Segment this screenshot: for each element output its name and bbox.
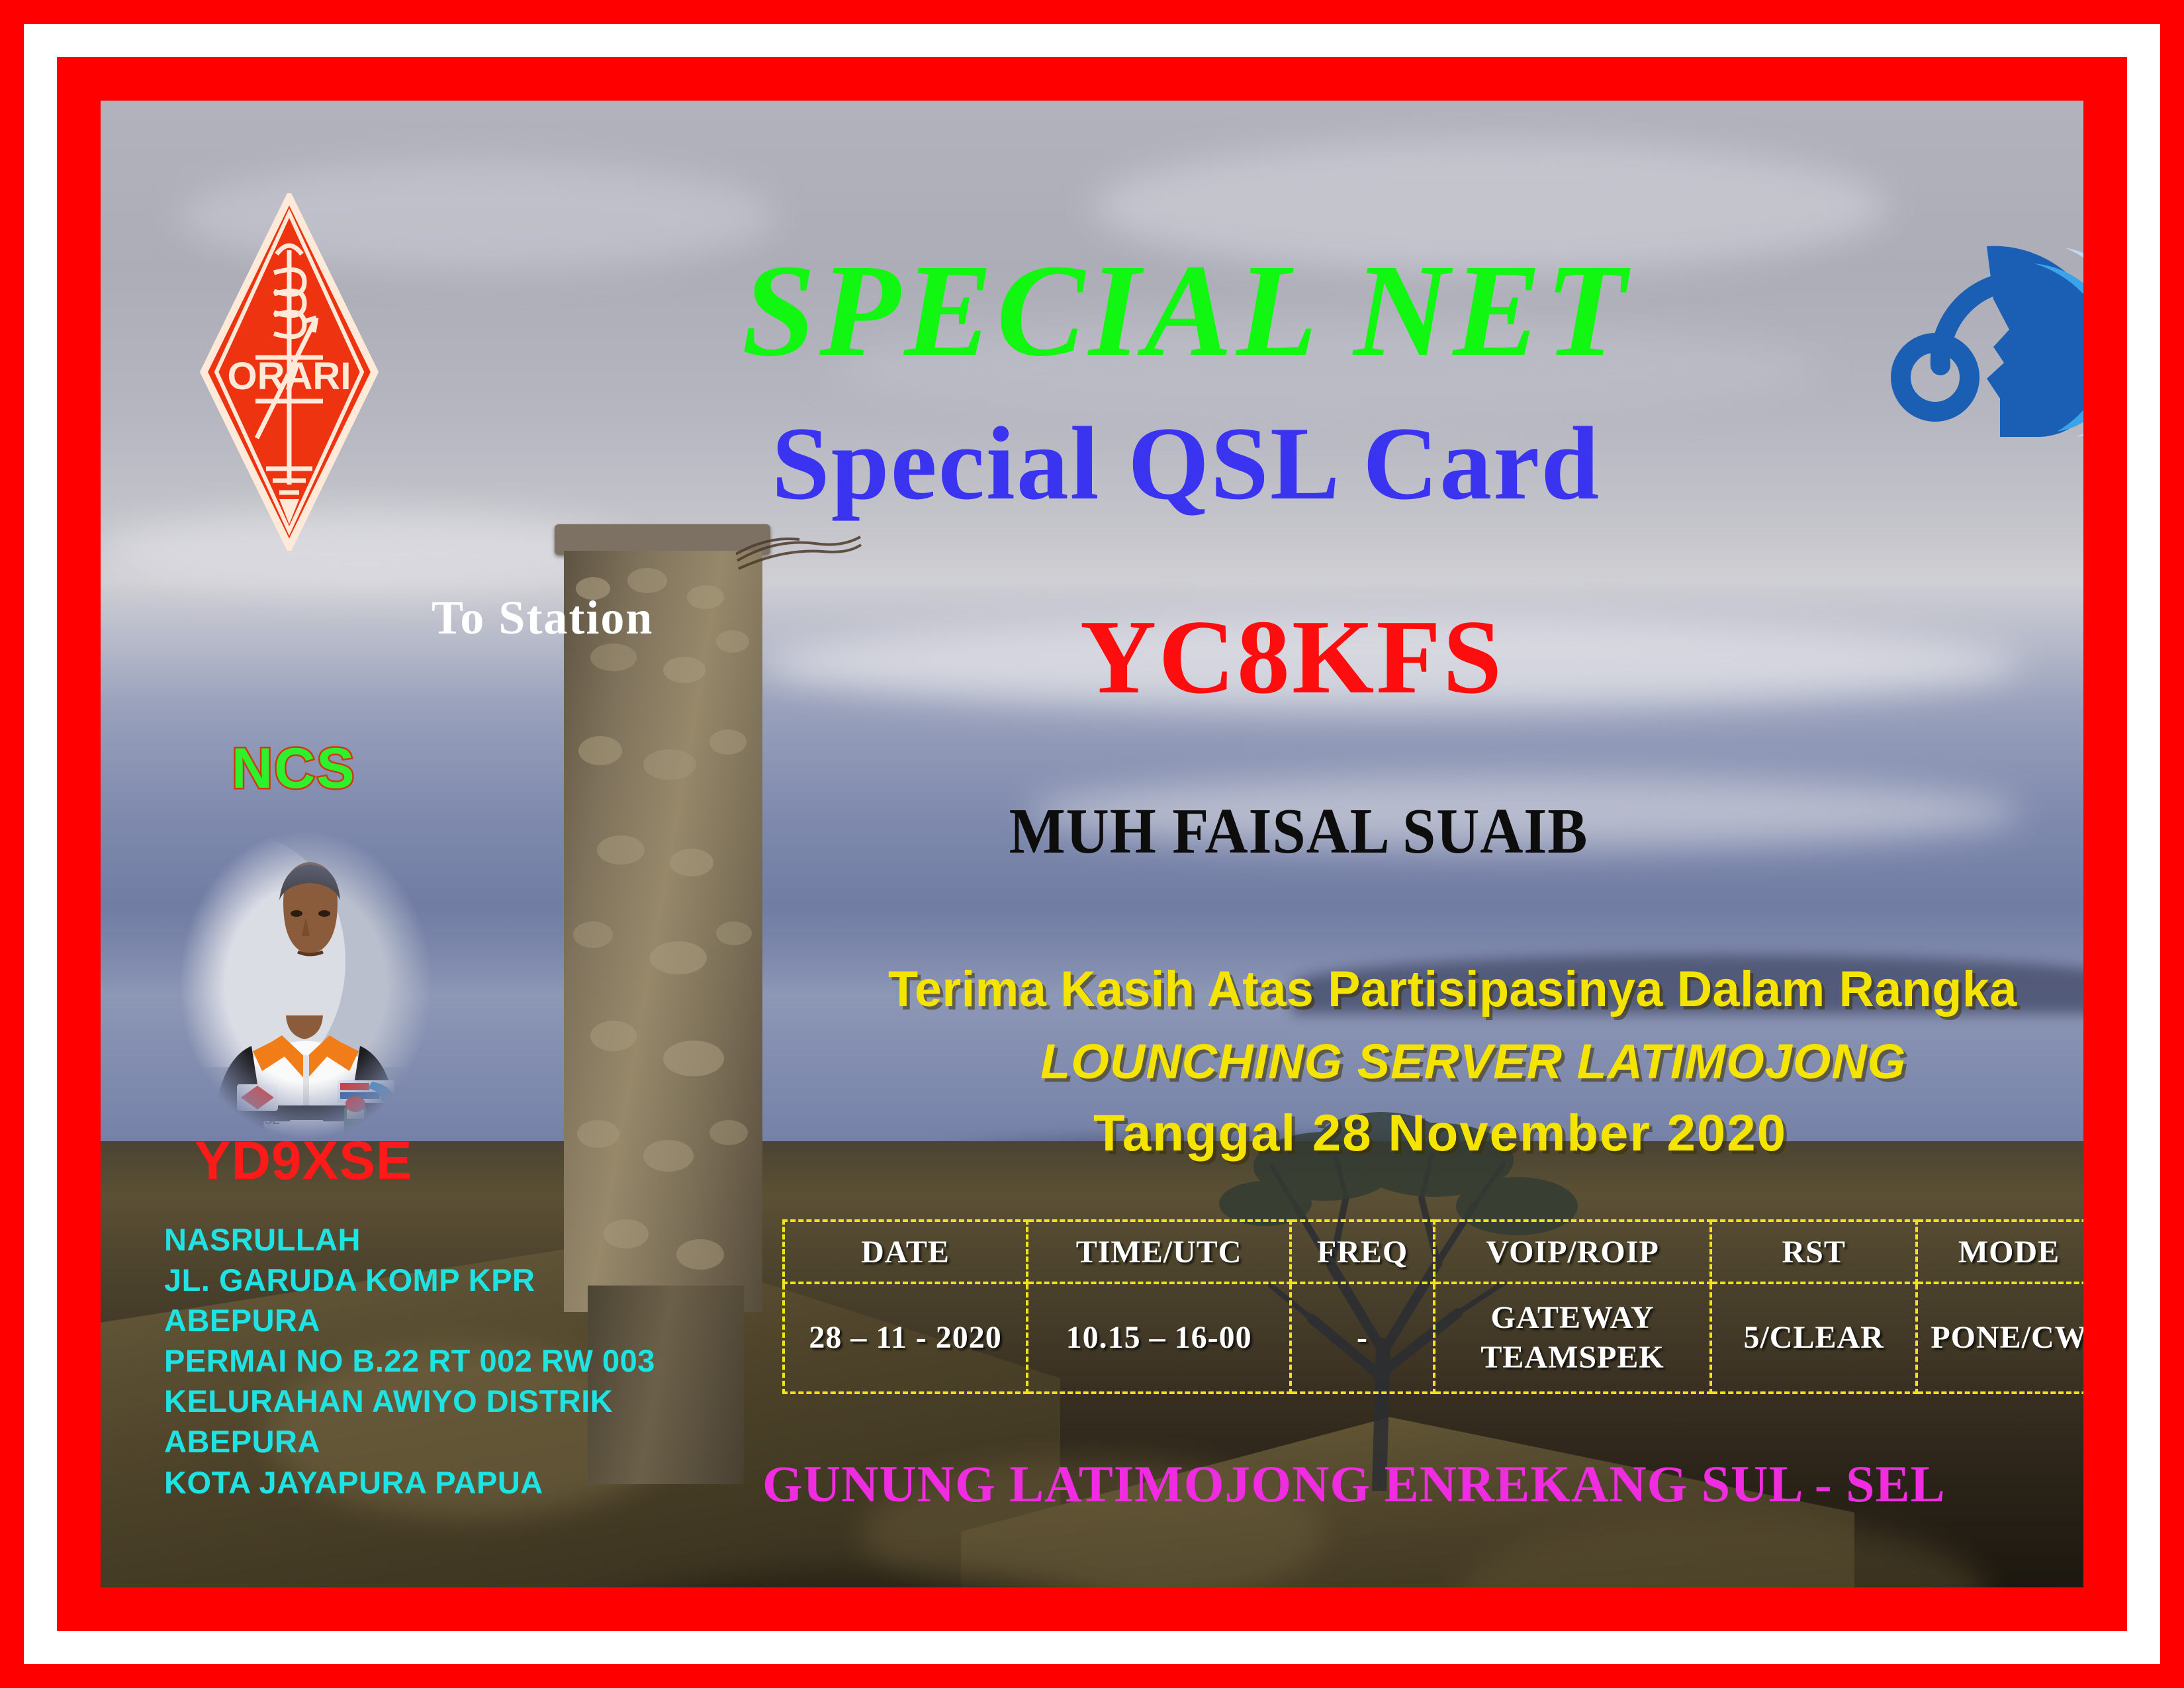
header-mode: MODE: [1917, 1221, 2083, 1283]
card-white-gap: ORARI NCS: [24, 24, 2160, 1664]
event-date-line: Tanggal 28 November 2020: [1093, 1107, 1787, 1158]
card-photo-background: ORARI NCS: [101, 101, 2083, 1587]
address-line: JL. GARUDA KOMP KPR: [164, 1260, 655, 1300]
cell-voip-roip-line1: GATEWAY: [1436, 1298, 1709, 1338]
headset-profile-logo: [1888, 200, 2083, 438]
address-line: ABEPURA: [164, 1421, 655, 1462]
cell-voip-roip-line2: TEAMSPEK: [1436, 1338, 1709, 1378]
cell-freq: -: [1291, 1283, 1434, 1393]
address-line: ABEPURA: [164, 1300, 655, 1340]
page-subtitle: Special QSL Card: [557, 412, 1815, 516]
address-line: KOTA JAYAPURA PAPUA: [164, 1462, 655, 1503]
qso-details-table: DATE TIME/UTC FREQ VOIP/ROIP RST MODE 28…: [782, 1219, 2083, 1394]
cell-voip-roip: GATEWAY TEAMSPEK: [1434, 1283, 1711, 1393]
address-line: KELURAHAN AWIYO DISTRIK: [164, 1381, 655, 1421]
header-time-utc: TIME/UTC: [1027, 1221, 1291, 1283]
orari-logo: ORARI: [200, 193, 379, 551]
station-address-block: NASRULLAH JL. GARUDA KOMP KPR ABEPURA PE…: [164, 1219, 655, 1503]
ncs-label: NCS: [232, 736, 356, 802]
to-station-label: To Station: [432, 590, 653, 645]
orari-logo-text: ORARI: [228, 355, 351, 398]
header-voip-roip: VOIP/ROIP: [1434, 1221, 1711, 1283]
thanks-line: Terima Kasih Atas Partisipasinya Dalam R…: [888, 964, 2017, 1015]
table-header-row: DATE TIME/UTC FREQ VOIP/ROIP RST MODE: [784, 1221, 2083, 1283]
cell-time-utc: 10.15 – 16-00: [1027, 1283, 1291, 1393]
cell-mode: PONE/CW: [1917, 1283, 2083, 1393]
event-line: LOUNCHING SERVER LATIMOJONG: [1040, 1037, 1906, 1086]
qsl-card: ORARI NCS: [0, 0, 2184, 1688]
header-freq: FREQ: [1291, 1221, 1434, 1283]
station-callsign: YC8KFS: [961, 604, 1623, 710]
grass-tuft: [736, 534, 862, 581]
page-title: SPECIAL NET: [557, 245, 1815, 377]
operator-name: MUH FAISAL SUAIB: [945, 799, 1651, 864]
uniform-patch-callsign: YD9XSE: [235, 1114, 279, 1127]
header-date: DATE: [784, 1221, 1027, 1283]
location-line: GUNUNG LATIMOJONG ENREKANG SUL - SEL: [762, 1454, 1946, 1514]
cell-date: 28 – 11 - 2020: [784, 1283, 1027, 1393]
address-line: PERMAI NO B.22 RT 002 RW 003: [164, 1340, 655, 1381]
card-inner-red-border: ORARI NCS: [57, 57, 2127, 1631]
ncs-operator-photo: YD9XSE: [173, 829, 438, 1140]
address-line: NASRULLAH: [164, 1219, 655, 1260]
table-row: 28 – 11 - 2020 10.15 – 16-00 - GATEWAY T…: [784, 1283, 2083, 1393]
ncs-callsign: YD9XSE: [195, 1130, 413, 1192]
header-rst: RST: [1711, 1221, 1917, 1283]
monument-body: [564, 551, 762, 1312]
cell-rst: 5/CLEAR: [1711, 1283, 1917, 1393]
